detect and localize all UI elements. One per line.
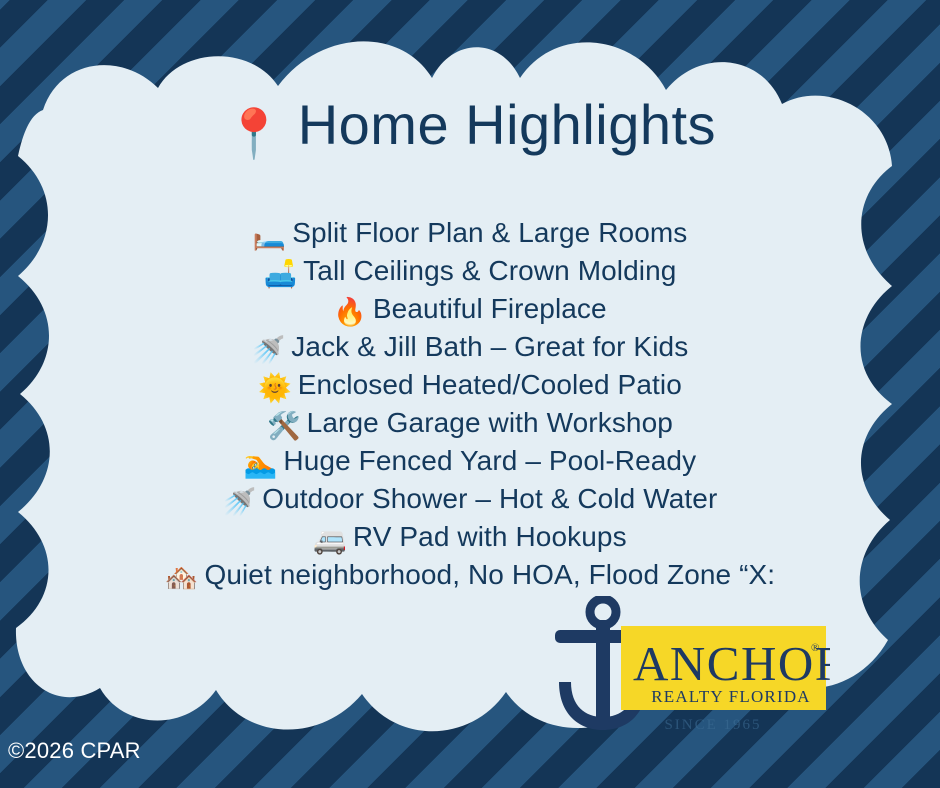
list-item: 🛠️Large Garage with Workshop: [0, 404, 940, 442]
swimmer-icon: 🏊: [244, 449, 278, 479]
anchor-realty-logo: ANCHOR ® REALTY FLORIDA SINCE 1965: [545, 596, 830, 736]
list-item-label: Outdoor Shower – Hot & Cold Water: [262, 483, 717, 514]
logo-registered-mark: ®: [811, 642, 819, 654]
list-item-label: Beautiful Fireplace: [373, 293, 607, 324]
list-item: 🏘️Quiet neighborhood, No HOA, Flood Zone…: [0, 556, 940, 594]
list-item-label: Large Garage with Workshop: [307, 407, 673, 438]
list-item-label: RV Pad with Hookups: [353, 521, 627, 552]
shower-icon: 🚿: [252, 335, 286, 365]
page-title-text: Home Highlights: [298, 93, 716, 156]
sun-with-face-icon: 🌞: [258, 373, 292, 403]
list-item: 🛋️Tall Ceilings & Crown Molding: [0, 252, 940, 290]
page-title: 📍Home Highlights: [0, 92, 940, 159]
copyright-watermark: ©2026 CPAR: [8, 738, 141, 764]
list-item: 🏊Huge Fenced Yard – Pool-Ready: [0, 442, 940, 480]
list-item: 🚿Jack & Jill Bath – Great for Kids: [0, 328, 940, 366]
shower-icon: 🚿: [223, 487, 257, 517]
list-item: 🚐RV Pad with Hookups: [0, 518, 940, 556]
logo-tagline: REALTY FLORIDA: [651, 687, 811, 706]
minibus-icon: 🚐: [313, 525, 347, 555]
fire-icon: 🔥: [333, 297, 367, 327]
hammer-and-wrench-icon: 🛠️: [267, 411, 301, 441]
home-highlights-list: 🛏️Split Floor Plan & Large Rooms 🛋️Tall …: [0, 214, 940, 594]
list-item-label: Jack & Jill Bath – Great for Kids: [291, 331, 688, 362]
ceiling-light-icon: 🛋️: [264, 259, 298, 289]
marketing-graphic: 📍Home Highlights 🛏️Split Floor Plan & La…: [0, 0, 940, 788]
list-item-label: Huge Fenced Yard – Pool-Ready: [283, 445, 696, 476]
list-item-label: Tall Ceilings & Crown Molding: [303, 255, 676, 286]
list-item: 🚿Outdoor Shower – Hot & Cold Water: [0, 480, 940, 518]
round-pushpin-icon: 📍: [224, 108, 284, 161]
list-item-label: Enclosed Heated/Cooled Patio: [298, 369, 682, 400]
list-item: 🛏️Split Floor Plan & Large Rooms: [0, 214, 940, 252]
logo-brand: ANCHOR: [633, 636, 830, 691]
list-item-label: Quiet neighborhood, No HOA, Flood Zone “…: [204, 559, 775, 590]
bed-icon: 🛏️: [253, 221, 287, 251]
list-item: 🌞Enclosed Heated/Cooled Patio: [0, 366, 940, 404]
list-item-label: Split Floor Plan & Large Rooms: [292, 217, 687, 248]
houses-icon: 🏘️: [165, 563, 199, 593]
list-item: 🔥Beautiful Fireplace: [0, 290, 940, 328]
logo-since: SINCE 1965: [664, 717, 761, 733]
